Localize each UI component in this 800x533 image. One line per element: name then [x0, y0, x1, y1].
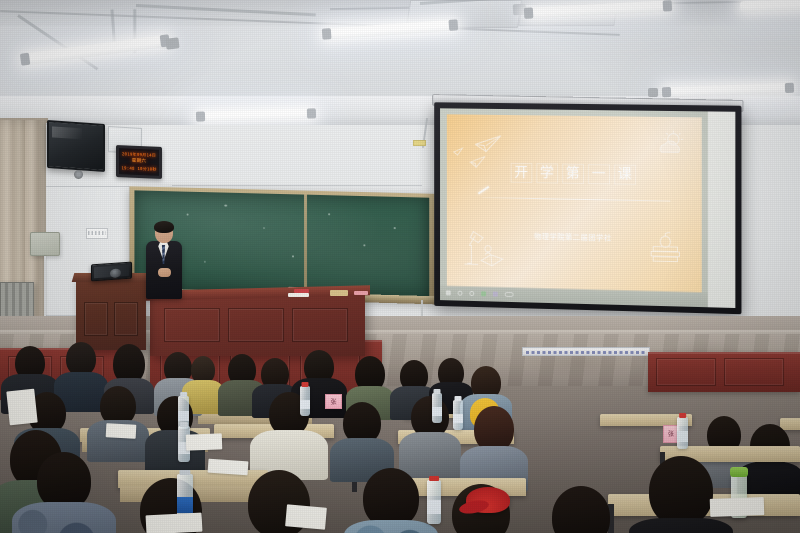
- bottle-label: [427, 500, 441, 514]
- student-head: [363, 468, 419, 528]
- student: [404, 396, 456, 464]
- student-camo: [24, 452, 104, 533]
- bottle-label: [677, 431, 688, 441]
- student: [466, 406, 522, 476]
- wainscot-panel: [656, 358, 716, 386]
- fit-slide-icon[interactable]: [505, 292, 514, 297]
- student-head: [552, 486, 610, 533]
- bottle-cap: [679, 413, 687, 418]
- presenter-hair: [154, 221, 174, 233]
- presenter: [143, 222, 185, 298]
- student: [336, 402, 388, 468]
- wainscot-panel: [724, 358, 784, 386]
- wall-switch-plaque[interactable]: [86, 228, 108, 239]
- classroom-photo-scene: 2019年09月14日 星期六 19:48 10分10秒: [0, 0, 800, 533]
- lectern-laptop[interactable]: [91, 262, 132, 282]
- student-camo-shirt: [352, 468, 430, 533]
- wall-wainscot: [648, 352, 800, 392]
- led-line-2: 星期六: [132, 159, 146, 164]
- water-bottle[interactable]: [453, 400, 463, 430]
- bottle-label: [453, 414, 463, 424]
- student: [540, 486, 622, 533]
- lectern-panel: [84, 302, 108, 336]
- wall-panel-outline: [172, 130, 422, 186]
- bottle-cap: [180, 392, 188, 397]
- desk-paper-pink: [354, 291, 368, 295]
- chalk-speck: [328, 213, 330, 215]
- paper-plane-tiny-icon: [453, 147, 465, 156]
- zoom-slider-icon[interactable]: [493, 292, 498, 297]
- thermos-cap: [730, 467, 748, 477]
- chalk-speck: [292, 256, 294, 258]
- chalk-speck: [263, 227, 265, 229]
- handout-paper[interactable]: [106, 423, 137, 439]
- bottle-cap: [179, 470, 190, 475]
- bottle-label: [432, 407, 442, 417]
- tv-mount-bracket: [74, 170, 83, 179]
- led-line-3: 19:48 10分10秒: [121, 166, 156, 172]
- platform-notice-strip: [522, 347, 650, 356]
- ceiling-light-tube: [740, 0, 800, 12]
- desk-panel: [164, 308, 220, 342]
- laptop-speaker-grille: [110, 268, 121, 278]
- lamp-bracket: [648, 88, 658, 97]
- chalk-speck: [204, 261, 206, 263]
- red-baseball-cap: [466, 487, 510, 513]
- wall-control-box[interactable]: [30, 232, 60, 256]
- desk-paper-white: [288, 293, 309, 297]
- projection-screen: 开 学 第 一 课 物理学院第二届团学社: [434, 102, 741, 314]
- bottle-label: [177, 497, 193, 513]
- paper-plane-large-icon: [474, 134, 503, 154]
- bottle-cap: [455, 396, 462, 401]
- chalk-speck: [363, 244, 365, 246]
- presenter-hands: [158, 268, 171, 277]
- student-torso: [629, 518, 733, 533]
- handout-paper[interactable]: [208, 459, 249, 476]
- student-head: [649, 456, 713, 526]
- handout-paper[interactable]: [186, 433, 223, 450]
- desk-panel: [292, 308, 348, 342]
- slide-title-char: 一: [588, 164, 610, 184]
- sun-cloud-icon: [655, 130, 689, 157]
- water-bottle[interactable]: [432, 393, 442, 423]
- ceiling-light-tube: [20, 34, 170, 65]
- slide-view-icon[interactable]: [446, 291, 451, 296]
- monitor-glare: [52, 126, 82, 140]
- student: [636, 456, 726, 533]
- chalk-speck: [393, 227, 396, 229]
- screen-unprojected-margin: [708, 111, 735, 308]
- slideshow-icon[interactable]: [481, 291, 486, 296]
- water-bottle[interactable]: [300, 386, 310, 416]
- chalk-speck: [187, 213, 189, 215]
- bottle-label: [300, 400, 310, 410]
- slide-title-char: 第: [562, 164, 584, 184]
- presentation-slide: 开 学 第 一 课 物理学院第二届团学社: [440, 108, 708, 307]
- student: [92, 386, 144, 450]
- reading-view-icon[interactable]: [469, 291, 474, 296]
- projection-screen-fabric: 开 学 第 一 课 物理学院第二届团学社: [440, 108, 735, 308]
- handout-paper[interactable]: [285, 504, 327, 529]
- outline-view-icon[interactable]: [458, 291, 463, 296]
- handout-paper[interactable]: [146, 513, 203, 533]
- led-line-1: 2019年09月14日: [122, 152, 156, 158]
- bottle-cap: [180, 422, 188, 427]
- desk-panel: [228, 308, 284, 342]
- lectern: [76, 278, 146, 350]
- chalk-speck: [225, 204, 227, 206]
- led-info-board: 2019年09月14日 星期六 19:48 10分10秒: [116, 145, 162, 179]
- student-torso: [12, 502, 116, 533]
- slide-title-char: 学: [536, 164, 558, 184]
- handout-paper[interactable]: [6, 389, 37, 426]
- student-torso: [344, 520, 438, 533]
- handout-paper[interactable]: [710, 497, 765, 517]
- wall-sticker: [413, 140, 426, 146]
- water-bottle[interactable]: [427, 480, 441, 524]
- wall-mounted-monitor: [47, 120, 105, 172]
- lamp-bracket: [165, 37, 179, 50]
- teacher-desk: [150, 294, 365, 356]
- bottle-cap: [429, 476, 439, 481]
- bottle-cap: [434, 389, 441, 394]
- chalkboard-divider: [304, 195, 307, 294]
- slide-title-char: 课: [614, 165, 636, 185]
- student-head: [66, 342, 96, 376]
- desk-box: [330, 290, 348, 296]
- bottle-cap: [302, 382, 309, 387]
- water-bottle[interactable]: [677, 417, 688, 449]
- bottle-label: [178, 411, 189, 422]
- control-box-cable: [44, 256, 46, 318]
- slide-title-char: 开: [510, 163, 532, 183]
- lectern-panel: [114, 302, 138, 336]
